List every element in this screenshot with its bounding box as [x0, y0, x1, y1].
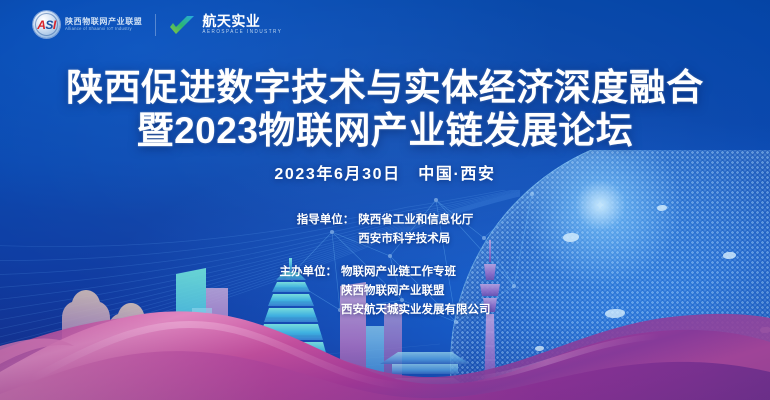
logo-divider	[155, 14, 156, 36]
guiding-unit-value: 西安市科学技术局	[358, 230, 473, 249]
asi-letter-i: I	[53, 18, 56, 32]
guiding-units-label: 指导单位：	[297, 211, 355, 230]
title-line-1: 陕西促进数字技术与实体经济深度融合	[0, 66, 770, 109]
header-logo-bar: ASI 陕西物联网产业联盟 Alliance of Shaanxi IoT In…	[33, 11, 282, 38]
title-line-2: 暨2023物联网产业链发展论坛	[0, 109, 770, 152]
shaanxi-iot-alliance-logo: ASI 陕西物联网产业联盟 Alliance of Shaanxi IoT In…	[33, 11, 142, 38]
guiding-unit-value: 陕西省工业和信息化厅	[358, 211, 473, 230]
guiding-units-row: 指导单位： 陕西省工业和信息化厅 西安市科学技术局	[297, 211, 474, 249]
event-date-location: 2023年6月30日 中国·西安	[0, 160, 770, 184]
host-unit-value: 陕西物联网产业联盟	[341, 282, 491, 301]
host-units-row: 主办单位： 物联网产业链工作专班 陕西物联网产业联盟 西安航天城实业发展有限公司	[280, 263, 491, 320]
organizer-credits: 指导单位： 陕西省工业和信息化厅 西安市科学技术局 主办单位： 物联网产业链工作…	[0, 211, 770, 320]
aerospace-name-en: AEROSPACE INDUSTRY	[202, 30, 282, 36]
aerospace-checkmark-icon	[169, 15, 195, 35]
asi-letter-s: S	[45, 18, 53, 32]
poster-title: 陕西促进数字技术与实体经济深度融合 暨2023物联网产业链发展论坛	[0, 66, 770, 153]
aerospace-name-cn: 航天实业	[202, 14, 282, 28]
aerospace-industry-logo: 航天实业 AEROSPACE INDUSTRY	[169, 14, 282, 35]
host-unit-value: 物联网产业链工作专班	[341, 263, 491, 282]
event-poster: ASI 陕西物联网产业联盟 Alliance of Shaanxi IoT In…	[0, 0, 770, 400]
asi-emblem-icon: ASI	[33, 11, 60, 38]
host-unit-value: 西安航天城实业发展有限公司	[341, 301, 491, 320]
alliance-name-en: Alliance of Shaanxi IoT Industry	[65, 27, 142, 32]
host-units-label: 主办单位：	[280, 263, 338, 282]
